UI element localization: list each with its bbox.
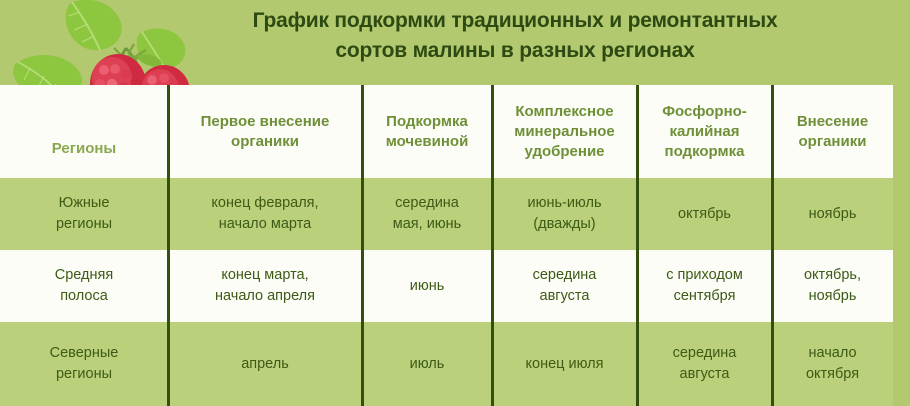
table-cell: апрель — [168, 322, 362, 406]
column-divider — [636, 85, 639, 406]
table-cell: начало октября — [772, 322, 893, 406]
table-header-row: Регионы Первое внесение органики Подкорм… — [0, 85, 893, 178]
table-cell: июль — [362, 322, 492, 406]
column-header-complex-mineral: Комплексное минеральное удобрение — [492, 85, 637, 178]
table-cell: конец марта, начало апреля — [168, 250, 362, 322]
column-header-urea: Подкормка мочевиной — [362, 85, 492, 178]
table-cell: середина мая, июнь — [362, 178, 492, 250]
row-label-region: Северные регионы — [0, 322, 168, 406]
column-header-first-organic: Первое внесение органики — [168, 85, 362, 178]
table-cell: конец июля — [492, 322, 637, 406]
column-header-regions: Регионы — [0, 85, 168, 178]
column-divider — [491, 85, 494, 406]
table-cell: октябрь, ноябрь — [772, 250, 893, 322]
page-title: График подкормки традиционных и ремонтан… — [165, 6, 865, 66]
table-row: Южные регионы конец февраля, начало март… — [0, 178, 893, 250]
table-cell: с приходом сентября — [637, 250, 772, 322]
table-cell: октябрь — [637, 178, 772, 250]
table-cell: ноябрь — [772, 178, 893, 250]
column-divider — [361, 85, 364, 406]
row-label-region: Средняя полоса — [0, 250, 168, 322]
table-cell: середина августа — [637, 322, 772, 406]
table-cell: июнь — [362, 250, 492, 322]
row-label-region: Южные регионы — [0, 178, 168, 250]
column-header-phosphorus-potassium: Фосфорно- калийная подкормка — [637, 85, 772, 178]
table-row: Средняя полоса конец марта, начало апрел… — [0, 250, 893, 322]
feeding-schedule-table: Регионы Первое внесение органики Подкорм… — [0, 85, 910, 406]
infographic-root: График подкормки традиционных и ремонтан… — [0, 0, 910, 406]
table-cell: середина августа — [492, 250, 637, 322]
column-header-organic: Внесение органики — [772, 85, 893, 178]
column-divider — [167, 85, 170, 406]
table-row: Северные регионы апрель июль конец июля … — [0, 322, 893, 406]
page-title-line-1: График подкормки традиционных и ремонтан… — [165, 6, 865, 36]
table-cell: конец февраля, начало марта — [168, 178, 362, 250]
column-divider — [771, 85, 774, 406]
page-title-line-2: сортов малины в разных регионах — [165, 36, 865, 66]
table-cell: июнь-июль (дважды) — [492, 178, 637, 250]
